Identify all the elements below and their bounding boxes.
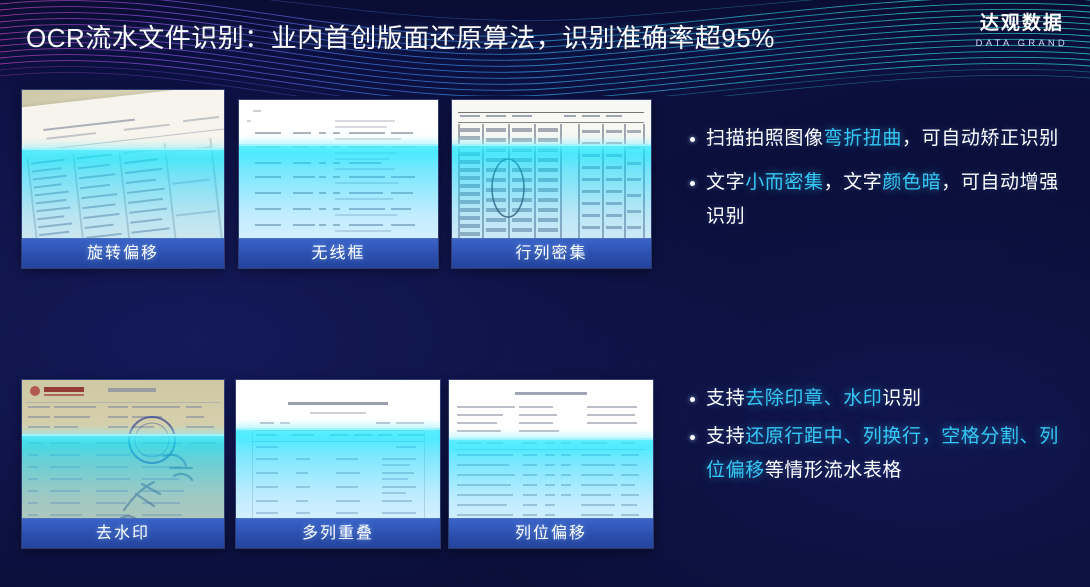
plain-phrase: ，文字 <box>824 172 883 193</box>
sample-card-shifted-columns[interactable]: 列位偏移 <box>449 380 653 548</box>
document-thumbnail: 旋转偏移 <box>22 90 224 268</box>
feature-list-top: 扫描拍照图像弯折扭曲，可自动矫正识别 文字小而密集，文字颜色暗，可自动增强识别 <box>688 122 1060 234</box>
sample-card-watermark[interactable]: 去水印 <box>22 380 224 548</box>
card-caption: 无线框 <box>239 238 438 268</box>
plain-phrase: 支持 <box>706 388 745 409</box>
document-thumbnail: 行列密集 <box>452 100 651 268</box>
plain-phrase: 扫描拍照图像 <box>706 128 824 149</box>
brand-logo-cn: 达观数据 <box>976 13 1068 35</box>
document-thumbnail: 列位偏移 <box>449 380 653 548</box>
page-title: OCR流水文件识别：业内首创版面还原算法，识别准确率超95% <box>26 18 775 55</box>
bullet-text-0: 扫描拍照图像弯折扭曲，可自动矫正识别 <box>706 122 1059 156</box>
card-caption: 列位偏移 <box>449 518 653 548</box>
highlighted-phrase: 去除印章、水印 <box>745 388 882 409</box>
list-item: 扫描拍照图像弯折扭曲，可自动矫正识别 <box>688 122 1060 156</box>
list-item: 支持去除印章、水印识别 <box>688 382 1060 416</box>
highlighted-phrase: 弯折扭曲 <box>824 128 902 149</box>
highlighted-phrase: 小而密集 <box>745 172 823 193</box>
plain-phrase: 等情形流水表格 <box>765 460 902 481</box>
sample-card-overlapping-columns[interactable]: 多列重叠 <box>236 380 440 548</box>
list-item: 文字小而密集，文字颜色暗，可自动增强识别 <box>688 166 1060 234</box>
sample-card-borderless[interactable]: 无线框 <box>239 100 438 268</box>
plain-phrase: 支持 <box>706 426 745 447</box>
list-item: 支持还原行距中、列换行，空格分割、列位偏移等情形流水表格 <box>688 420 1060 488</box>
plain-phrase: 识别 <box>882 388 921 409</box>
sample-card-dense[interactable]: 行列密集 <box>452 100 651 268</box>
bullet-dot-icon <box>690 137 695 142</box>
plain-phrase: ，可自动矫正识别 <box>902 128 1059 149</box>
plain-phrase: 文字 <box>706 172 745 193</box>
highlighted-phrase: 颜色暗 <box>882 172 941 193</box>
document-thumbnail: 去水印 <box>22 380 224 548</box>
card-caption: 行列密集 <box>452 238 651 268</box>
bullet-dot-icon <box>690 181 695 186</box>
document-thumbnail: 多列重叠 <box>236 380 440 548</box>
bullet-text-2: 支持去除印章、水印识别 <box>706 382 922 416</box>
bullet-text-3: 支持还原行距中、列换行，空格分割、列位偏移等情形流水表格 <box>706 420 1060 488</box>
document-thumbnail: 无线框 <box>239 100 438 268</box>
card-caption: 去水印 <box>22 518 224 548</box>
bullet-text-1: 文字小而密集，文字颜色暗，可自动增强识别 <box>706 166 1060 234</box>
brand-logo-en: DATA GRAND <box>976 38 1068 49</box>
handwritten-watermark-icon <box>108 436 204 522</box>
oval-stamp-icon <box>488 156 528 220</box>
feature-list-bottom: 支持去除印章、水印识别 支持还原行距中、列换行，空格分割、列位偏移等情形流水表格 <box>688 382 1060 488</box>
bullet-dot-icon <box>690 397 695 402</box>
sample-card-rotated[interactable]: 旋转偏移 <box>22 90 224 268</box>
brand-logo: 达观数据 DATA GRAND <box>976 13 1068 49</box>
card-caption: 旋转偏移 <box>22 238 224 268</box>
bullet-dot-icon <box>690 435 695 440</box>
card-caption: 多列重叠 <box>236 518 440 548</box>
